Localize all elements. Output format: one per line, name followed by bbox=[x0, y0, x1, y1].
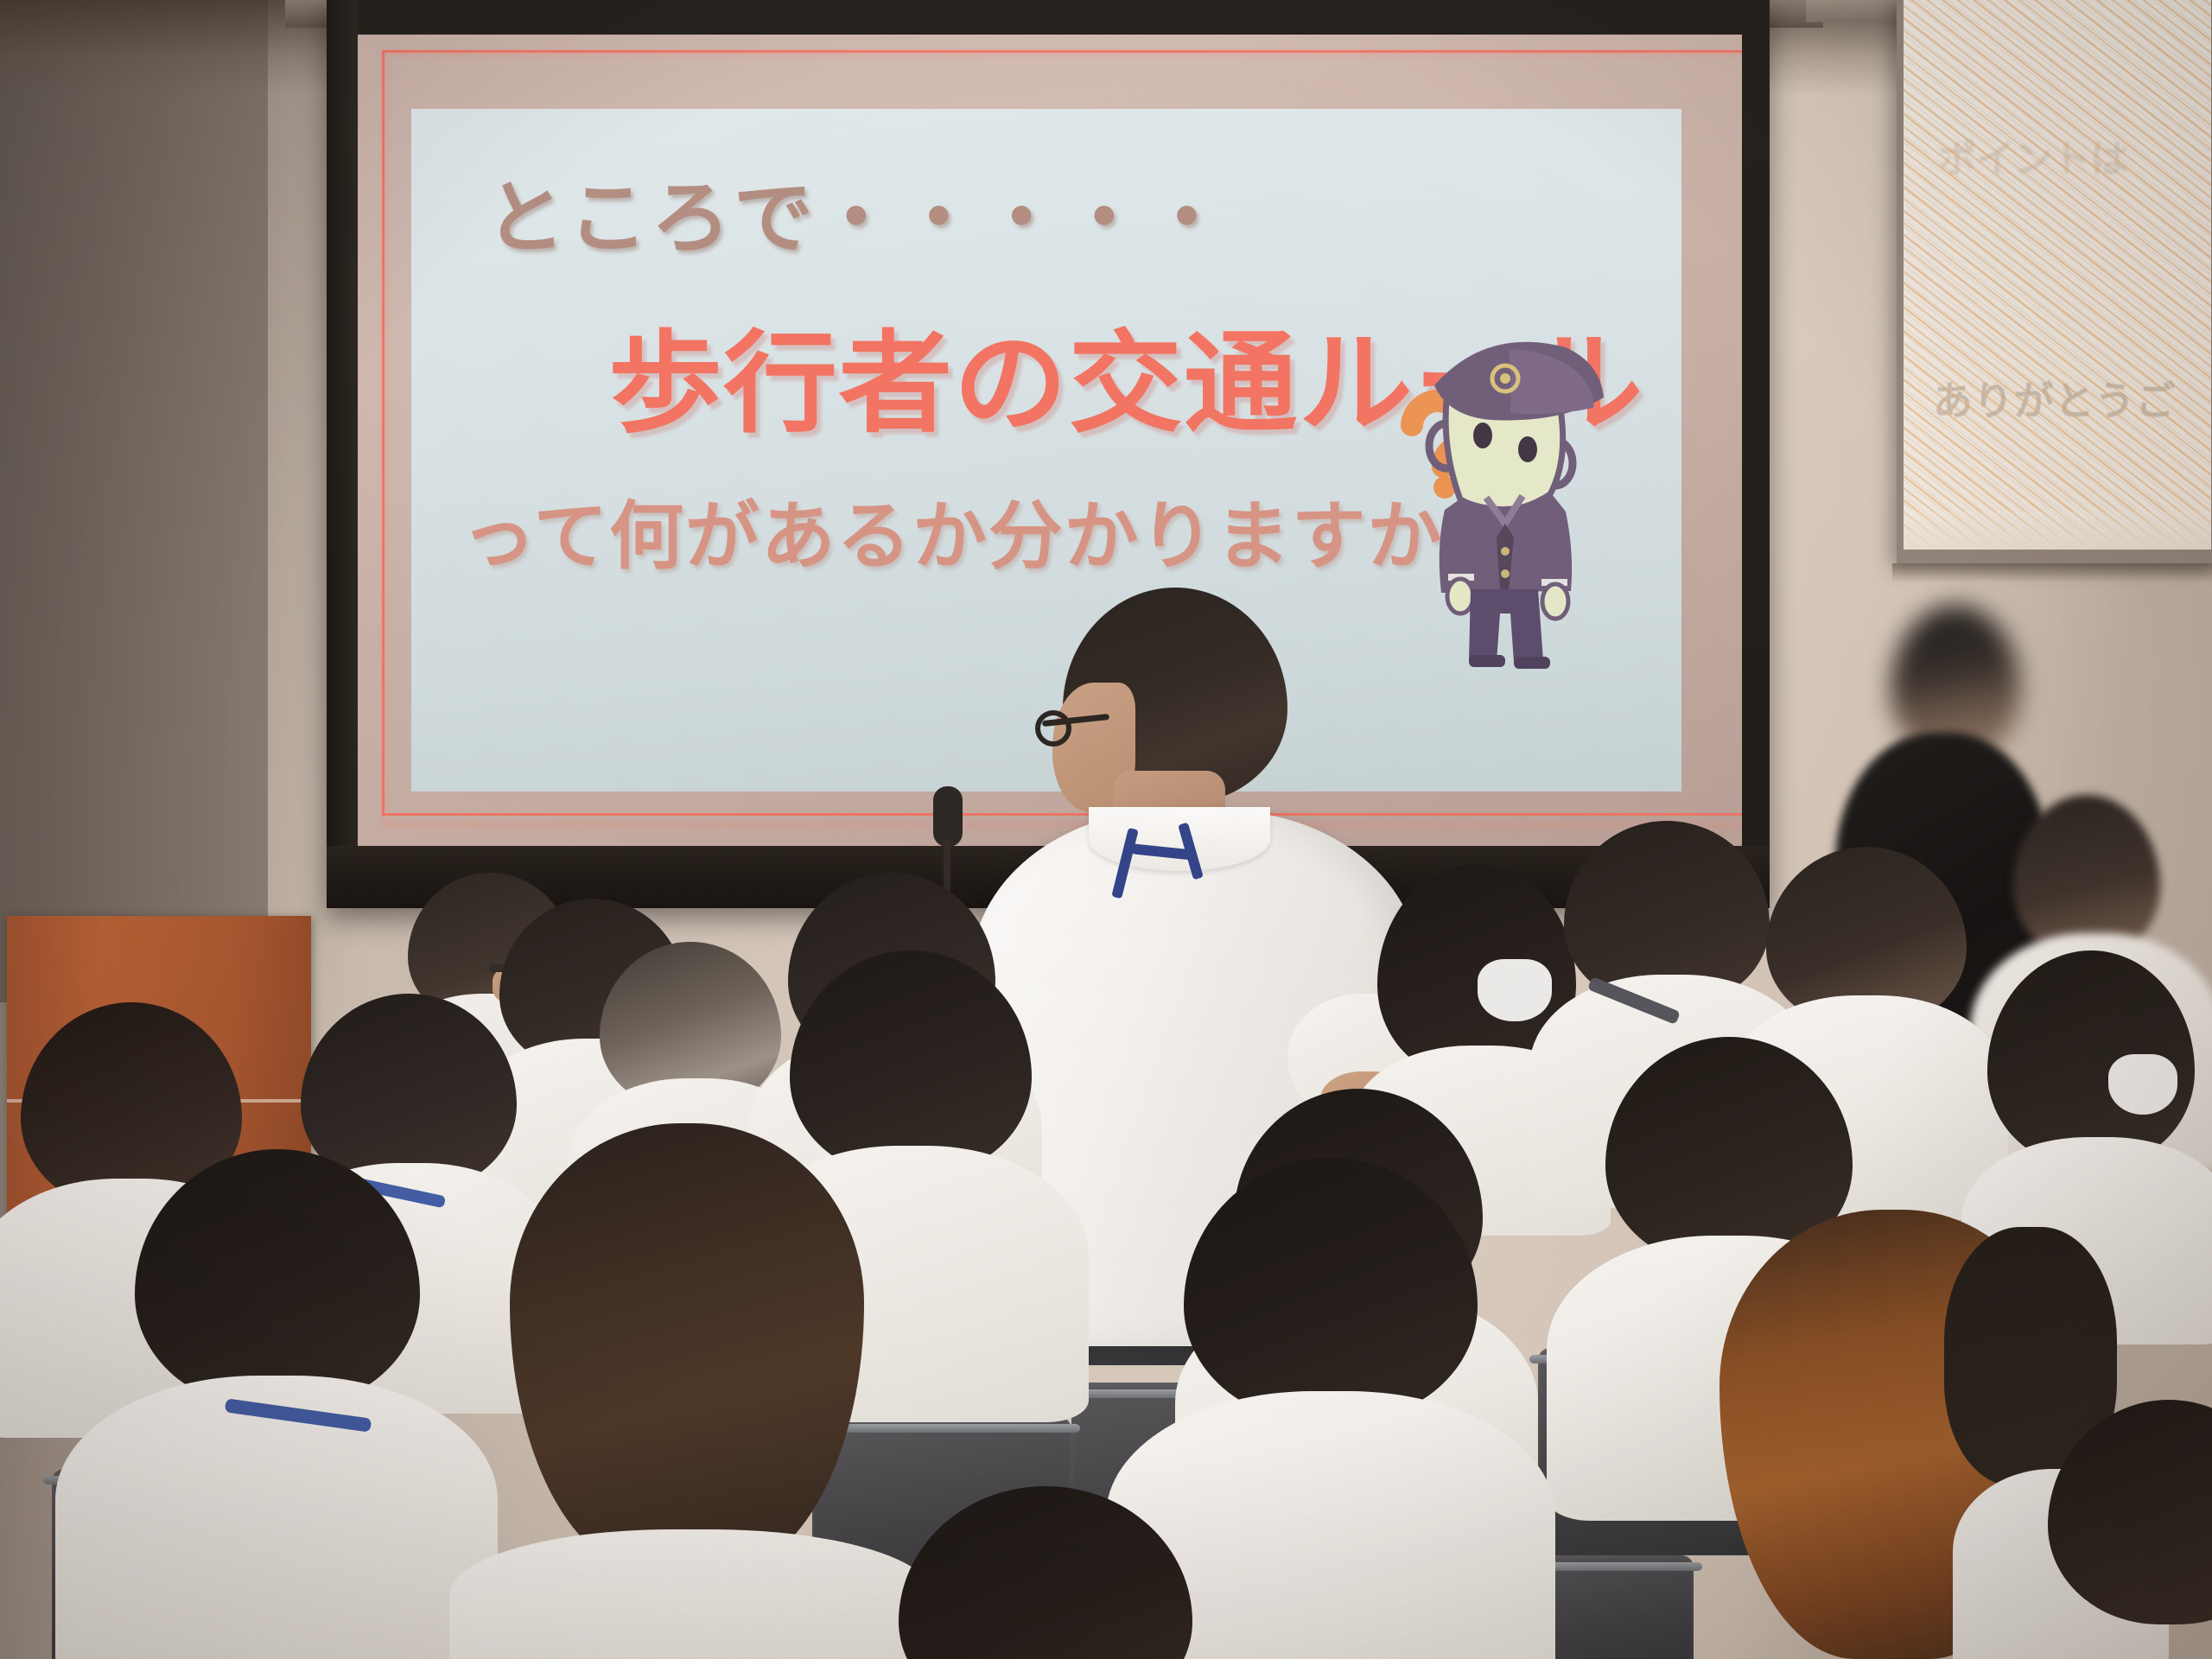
microphone bbox=[933, 786, 963, 847]
face-mask bbox=[2108, 1054, 2177, 1115]
side-monitor-shadow bbox=[1892, 563, 2212, 582]
slide-line-1: ところで・・・・・ bbox=[486, 154, 1230, 269]
photo-scene: ところで・・・・・ 歩行者の交通ルール って何があるか分かりますか bbox=[0, 0, 2212, 1659]
side-monitor-bottom-band bbox=[1904, 512, 2211, 550]
side-monitor: ポイントは ありがとうご bbox=[1897, 0, 2212, 563]
audience-member-long-hair bbox=[484, 1123, 890, 1659]
left-wall-shadow bbox=[0, 0, 268, 1002]
audience-member bbox=[864, 1486, 1227, 1659]
slide-line-3: って何があるか分かりますか bbox=[461, 475, 1443, 583]
face-mask bbox=[1478, 959, 1552, 1021]
side-monitor-screen: ポイントは ありがとうご bbox=[1904, 0, 2211, 550]
audience-member bbox=[104, 1149, 449, 1659]
side-monitor-hatch-pattern bbox=[1904, 0, 2211, 550]
presenter-collar bbox=[1089, 807, 1270, 871]
audience-member bbox=[2031, 1400, 2212, 1659]
